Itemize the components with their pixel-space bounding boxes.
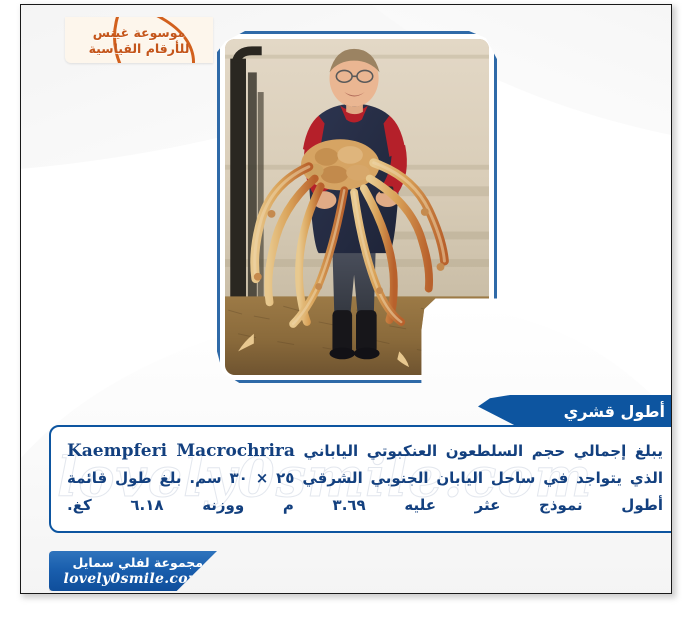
record-title-tab: أطول قشري: [476, 395, 672, 427]
brand-arabic-name: مجموعة لفلي سمايل: [49, 555, 203, 571]
badge-text-block: موسوعة غينس للأرقام القياسية: [65, 17, 213, 63]
site-brand-badge[interactable]: مجموعة لفلي سمايل lovely0smile.com: [49, 551, 217, 591]
record-title-text: أطول قشري: [564, 402, 665, 421]
record-description-panel: lovely0smile.com يبلغ إجمالي حجم السلطعو…: [49, 425, 672, 533]
badge-line-1: موسوعة غينس: [93, 25, 186, 40]
guinness-world-records-badge: موسوعة غينس للأرقام القياسية: [65, 17, 213, 63]
photo-illustration: [225, 39, 489, 375]
badge-line-2: للأرقام القياسية: [89, 41, 190, 56]
brand-url: lovely0smile.com: [49, 571, 203, 588]
description-part-2: الذي يتواجد في ساحل اليابان الجنوبي الشر…: [67, 469, 663, 514]
infographic-card: موسوعة غينس للأرقام القياسية: [20, 4, 672, 594]
record-description-text: يبلغ إجمالي حجم السلطعون العنكبوتي الياب…: [51, 427, 672, 519]
page-root: موسوعة غينس للأرقام القياسية: [0, 0, 692, 625]
brand-text-block: مجموعة لفلي سمايل lovely0smile.com: [49, 551, 217, 588]
species-latin-name: Kaempferi Macrochrira: [67, 441, 295, 461]
photo-frame: [217, 31, 497, 383]
description-part-1: يبلغ إجمالي حجم السلطعون العنكبوتي الياب…: [295, 442, 663, 460]
japanese-spider-crab-photo: [225, 39, 489, 375]
